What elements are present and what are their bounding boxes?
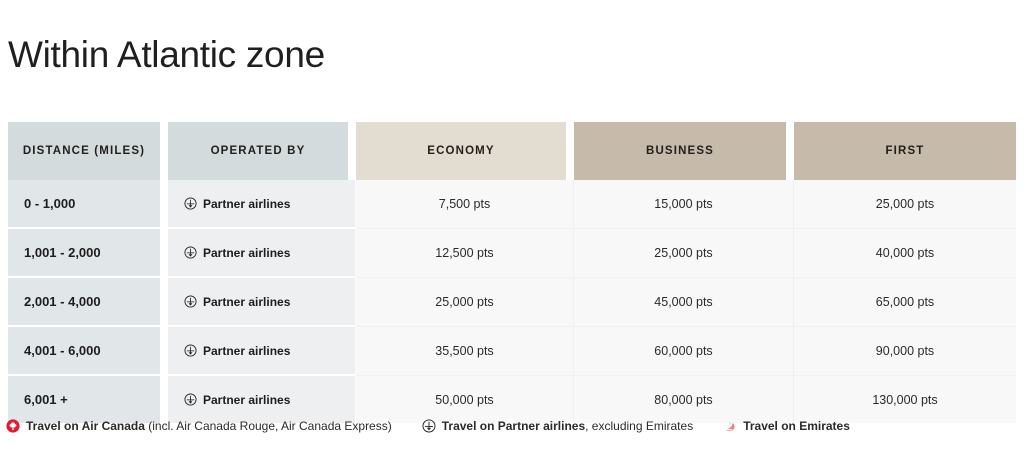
partner-airlines-icon [184,197,197,210]
cell-first-points: 25,000 pts [794,180,1016,229]
legend: Travel on Air Canada (incl. Air Canada R… [6,419,850,433]
legend-item: Travel on Emirates [723,419,850,433]
table-row: 2,001 - 4,000Partner airlines25,000 pts4… [8,278,1016,327]
legend-label-rest: (incl. Air Canada Rouge, Air Canada Expr… [145,419,392,433]
cell-operated-by: Partner airlines [168,327,356,376]
legend-label: Travel on Air Canada (incl. Air Canada R… [26,420,392,432]
table-header-row: DISTANCE (MILES) OPERATED BY ECONOMY BUS… [8,122,1016,180]
legend-item: Travel on Partner airlines, excluding Em… [422,419,693,433]
column-header-business: BUSINESS [574,122,794,180]
legend-label-bold: Travel on Emirates [743,419,850,433]
table-row: 6,001 +Partner airlines50,000 pts80,000 … [8,376,1016,423]
column-header-operated-by: OPERATED BY [168,122,356,180]
cell-operated-by: Partner airlines [168,229,356,278]
cell-business-points: 80,000 pts [574,376,794,423]
cell-distance: 0 - 1,000 [8,180,168,229]
page-title: Within Atlantic zone [8,31,325,79]
table-body: 0 - 1,000Partner airlines7,500 pts15,000… [8,180,1016,423]
operated-by-label: Partner airlines [203,296,290,308]
legend-label: Travel on Emirates [743,420,850,432]
award-points-table: DISTANCE (MILES) OPERATED BY ECONOMY BUS… [8,122,1016,423]
cell-business-points: 45,000 pts [574,278,794,327]
cell-first-points: 65,000 pts [794,278,1016,327]
column-header-distance: DISTANCE (MILES) [8,122,168,180]
partner-airlines-icon [422,419,436,433]
cell-business-points: 60,000 pts [574,327,794,376]
partner-airlines-icon [184,344,197,357]
legend-label-rest: , excluding Emirates [585,419,693,433]
table-header: DISTANCE (MILES) OPERATED BY ECONOMY BUS… [8,122,1016,180]
cell-first-points: 130,000 pts [794,376,1016,423]
operated-by-label: Partner airlines [203,345,290,357]
column-header-economy: ECONOMY [356,122,574,180]
cell-economy-points: 35,500 pts [356,327,574,376]
cell-first-points: 40,000 pts [794,229,1016,278]
cell-distance: 2,001 - 4,000 [8,278,168,327]
cell-distance: 4,001 - 6,000 [8,327,168,376]
partner-airlines-icon [184,246,197,259]
partner-airlines-icon [184,295,197,308]
legend-label: Travel on Partner airlines, excluding Em… [442,420,693,432]
award-chart-page: Within Atlantic zone DISTANCE (MILES) OP… [0,0,1024,450]
air-canada-maple-leaf-icon [6,419,20,433]
operated-by-label: Partner airlines [203,394,290,406]
operated-by-label: Partner airlines [203,247,290,259]
table-row: 4,001 - 6,000Partner airlines35,500 pts6… [8,327,1016,376]
cell-distance: 1,001 - 2,000 [8,229,168,278]
cell-economy-points: 25,000 pts [356,278,574,327]
table-row: 1,001 - 2,000Partner airlines12,500 pts2… [8,229,1016,278]
partner-airlines-icon [184,393,197,406]
cell-economy-points: 50,000 pts [356,376,574,423]
legend-label-bold: Travel on Air Canada [26,419,145,433]
cell-business-points: 25,000 pts [574,229,794,278]
cell-operated-by: Partner airlines [168,278,356,327]
cell-economy-points: 12,500 pts [356,229,574,278]
legend-label-bold: Travel on Partner airlines [442,419,585,433]
cell-economy-points: 7,500 pts [356,180,574,229]
cell-operated-by: Partner airlines [168,376,356,423]
cell-operated-by: Partner airlines [168,180,356,229]
operated-by-label: Partner airlines [203,198,290,210]
emirates-icon [723,419,737,433]
cell-first-points: 90,000 pts [794,327,1016,376]
table-row: 0 - 1,000Partner airlines7,500 pts15,000… [8,180,1016,229]
cell-distance: 6,001 + [8,376,168,423]
legend-item: Travel on Air Canada (incl. Air Canada R… [6,419,392,433]
cell-business-points: 15,000 pts [574,180,794,229]
column-header-first: FIRST [794,122,1016,180]
